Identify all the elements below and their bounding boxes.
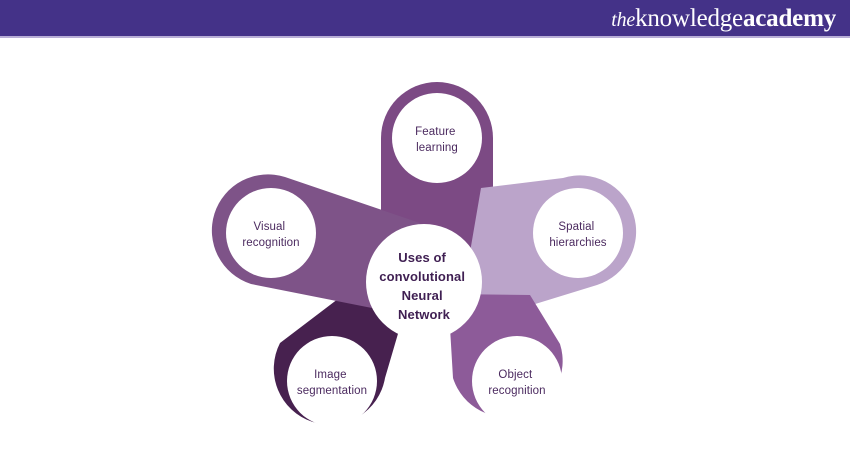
page-header: theknowledgeacademy [0,0,850,36]
petal-spatial-hierarchies-head [533,188,623,278]
diagram-stage: Feature learning Spatial hierarchies Obj… [0,38,850,450]
brand-logo-knowledge: knowledge [635,5,743,32]
brand-logo: theknowledgeacademy [611,6,836,31]
diagram-center[interactable]: Uses of convolutional Neural Network [366,224,482,340]
petal-image-segmentation-head [287,336,377,426]
brand-logo-the: the [611,9,635,31]
petal-object-recognition-head [472,336,562,426]
brand-logo-academy: academy [743,5,836,32]
petal-visual-recognition-head [226,188,316,278]
uses-of-cnn-diagram: Feature learning Spatial hierarchies Obj… [205,38,645,438]
petal-feature-learning-head [392,93,482,183]
